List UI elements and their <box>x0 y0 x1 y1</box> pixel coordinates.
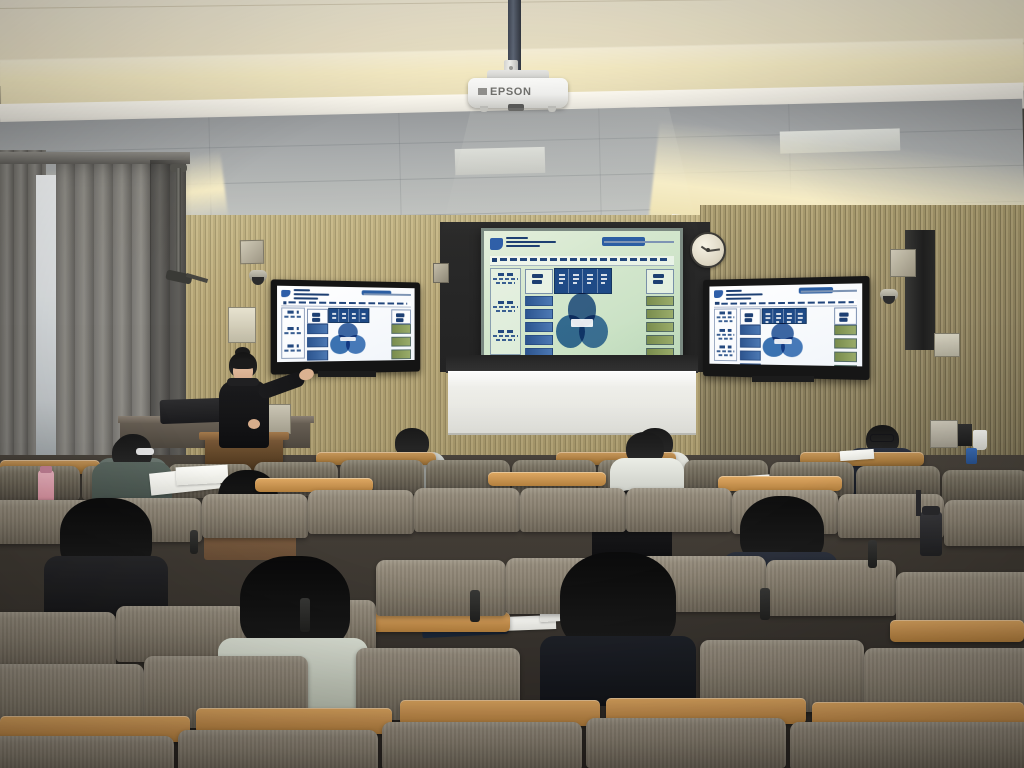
left-display-screen <box>277 286 415 362</box>
seat-front-3[interactable] <box>382 722 582 768</box>
seat-row2-10[interactable] <box>944 500 1024 546</box>
wall-clock <box>690 232 726 268</box>
armrest-2 <box>470 590 480 622</box>
slide-tags-right <box>646 296 675 361</box>
thermos-lid <box>922 506 940 515</box>
seat-row2-3[interactable] <box>202 494 308 538</box>
projection-screen-surface <box>484 231 680 361</box>
seat-front-4[interactable] <box>586 718 786 768</box>
instructor-hand-lower <box>248 419 260 429</box>
projector-brand-label: EPSON <box>490 85 560 99</box>
desk-row2-d <box>718 476 842 491</box>
student-torso-row4-2 <box>540 636 696 706</box>
projector-foot-left <box>480 106 488 112</box>
armrest-5 <box>190 530 198 554</box>
slide-box-moral-education <box>646 269 674 294</box>
slide-title <box>506 237 591 251</box>
speaker-left <box>240 240 264 264</box>
armrest-3 <box>760 588 770 620</box>
slide-title-icon <box>490 238 503 250</box>
slide-subtitle <box>490 256 674 266</box>
slide-venn-diagram <box>556 293 608 352</box>
slide-mirror-right <box>709 283 862 366</box>
clock-minute-hand <box>708 248 720 252</box>
slide-box-student-center <box>525 269 553 294</box>
instructor-hair-front <box>231 358 255 369</box>
thermos-handle <box>916 490 921 516</box>
seat-front-1[interactable] <box>0 736 174 768</box>
slide-projected <box>484 231 680 361</box>
ceiling-light-panel <box>455 147 546 175</box>
whiteboard-sheen <box>448 371 696 387</box>
slide-mirror-left <box>277 286 415 362</box>
projector-lens <box>508 104 524 111</box>
student-mask <box>136 448 154 455</box>
handout-row2-2 <box>176 465 229 486</box>
instructor <box>203 352 311 450</box>
seat-row2-5[interactable] <box>414 488 520 532</box>
lecture-hall-photo: EPSON <box>0 0 1024 768</box>
speaker-mid <box>433 263 449 283</box>
armrest-4 <box>868 540 877 568</box>
blue-cup <box>966 448 977 464</box>
desk-row2-c <box>488 472 606 486</box>
slide-left-column <box>490 268 521 354</box>
wall-notice-right <box>934 333 960 357</box>
seat-row3-4[interactable] <box>376 560 506 616</box>
ceiling-camera-pole <box>176 168 181 276</box>
right-wall-display[interactable] <box>703 276 870 380</box>
seat-row2-4[interactable] <box>308 490 414 534</box>
rear-dark-object <box>958 424 972 446</box>
slide-header <box>490 236 674 256</box>
paper-cups <box>973 430 987 450</box>
armrest-1 <box>300 598 310 632</box>
seat-front-2[interactable] <box>178 730 378 768</box>
slide-body <box>490 267 674 357</box>
bottle-cap <box>40 466 52 473</box>
desk-row4-a <box>890 620 1024 642</box>
seat-row3-1[interactable] <box>0 612 116 668</box>
seat-row2-7[interactable] <box>626 488 732 532</box>
wall-dark-column <box>905 230 935 350</box>
student-glasses <box>870 434 894 442</box>
seat-row2-6[interactable] <box>520 488 626 532</box>
venn-center-label <box>571 319 594 326</box>
clock-center <box>706 248 710 252</box>
seat-front-5[interactable] <box>790 722 1024 768</box>
slide-header-rule <box>604 241 674 243</box>
projector-foot-right <box>548 106 556 112</box>
wall-notice-left <box>228 307 256 343</box>
instructor-collar <box>227 378 259 386</box>
projector-logo-mark <box>478 88 487 95</box>
left-display-stand <box>318 371 376 377</box>
right-display-stand <box>752 376 814 382</box>
right-display-screen <box>709 283 862 366</box>
rear-box-right <box>930 420 958 448</box>
slide-header-strip <box>554 268 611 293</box>
seat-row3-7[interactable] <box>766 560 896 616</box>
speaker-right <box>890 249 916 277</box>
projection-screen[interactable] <box>481 228 683 364</box>
thermos-black <box>920 512 942 556</box>
slide-tags-left <box>525 296 554 361</box>
